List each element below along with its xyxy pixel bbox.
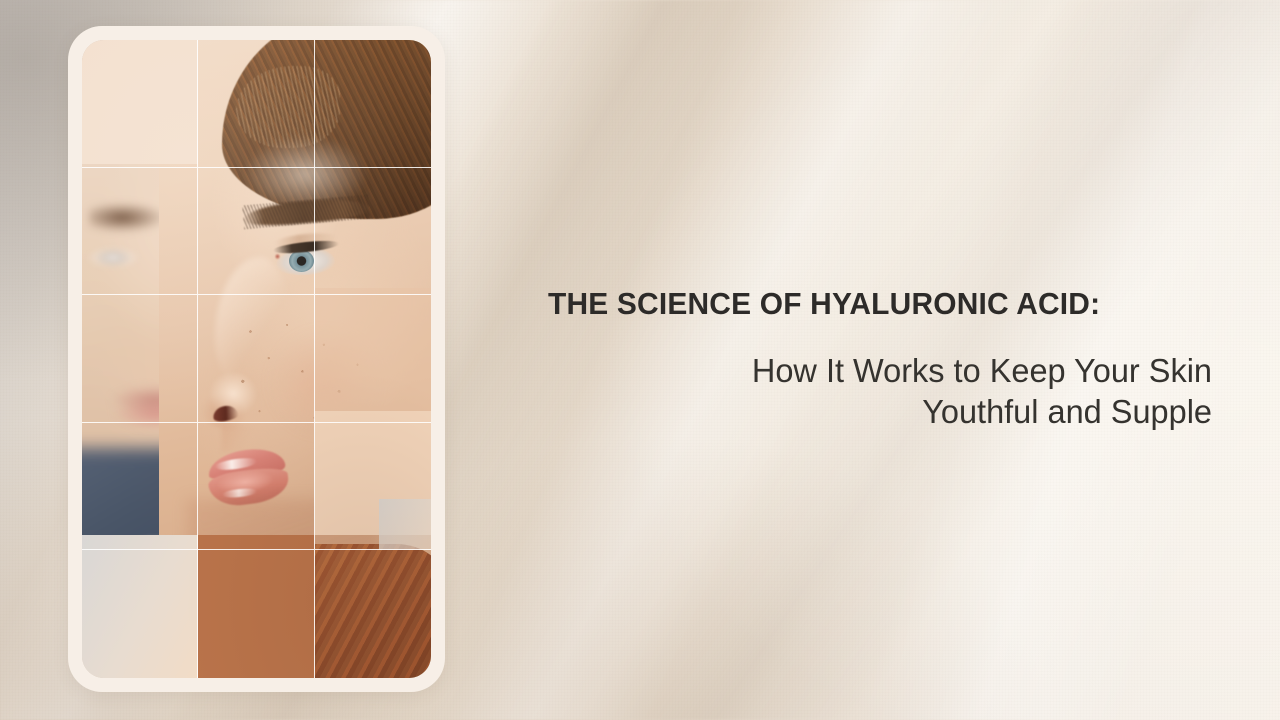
photo-grid-overlay <box>82 40 431 678</box>
grid-cell <box>198 168 314 296</box>
subheadline-line-2: Youthful and Supple <box>558 391 1212 432</box>
grid-cell <box>198 550 314 678</box>
grid-cell <box>315 295 431 423</box>
photo-card <box>68 26 445 692</box>
subheadline-line-1: How It Works to Keep Your Skin <box>558 350 1212 391</box>
grid-cell <box>82 40 198 168</box>
grid-cell <box>315 550 431 678</box>
slide-text-block: THE SCIENCE OF HYALURONIC ACID: How It W… <box>548 286 1212 432</box>
grid-cell <box>198 423 314 551</box>
grid-cell <box>82 423 198 551</box>
grid-cell <box>315 168 431 296</box>
grid-cell <box>198 295 314 423</box>
grid-cell <box>315 423 431 551</box>
slide-subheadline: How It Works to Keep Your Skin Youthful … <box>558 350 1212 433</box>
grid-cell <box>82 295 198 423</box>
grid-cell <box>82 550 198 678</box>
grid-cell <box>82 168 198 296</box>
slide-headline: THE SCIENCE OF HYALURONIC ACID: <box>548 286 1189 322</box>
slide-canvas: THE SCIENCE OF HYALURONIC ACID: How It W… <box>0 0 1280 720</box>
grid-cell <box>315 40 431 168</box>
portrait-photo <box>82 40 431 678</box>
grid-cell <box>198 40 314 168</box>
